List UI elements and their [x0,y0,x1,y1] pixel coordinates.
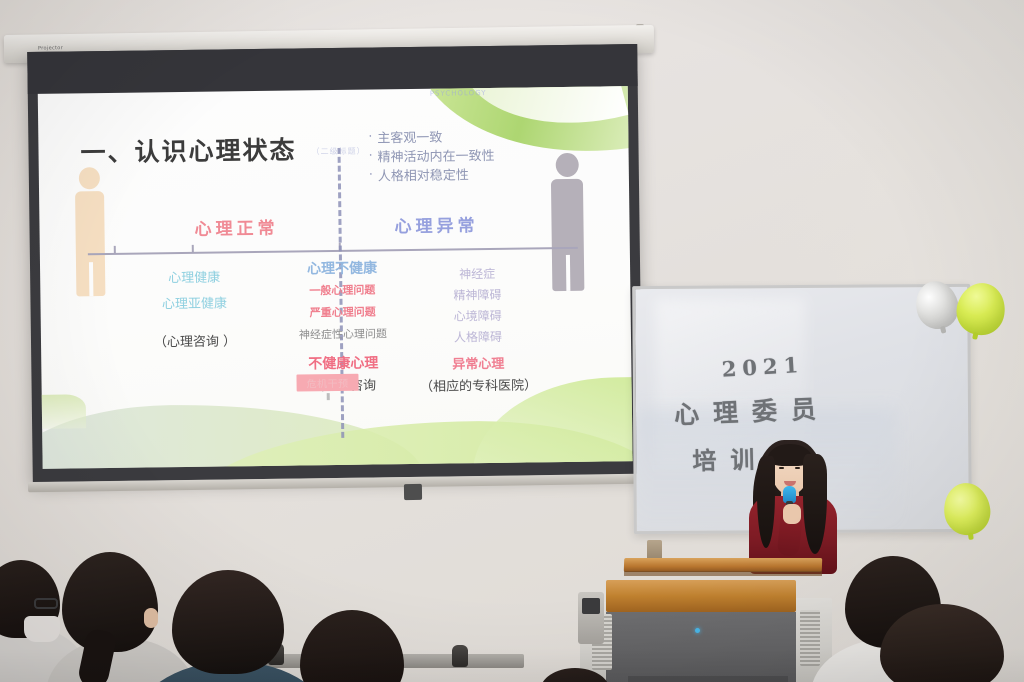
column-item: 神经症 [392,263,562,286]
bullet-item: 人格相对稳定性 [369,166,495,187]
bullet-item: 精神活动内在一致性 [369,147,495,168]
slide-column-normal-healthy: 心理健康 心理亚健康 （心理咨询 ） [114,265,275,357]
presentation-slide: PSYCHOLOGY 一、认识心理状态 （二级标题） 主客观一致 精神活动内在一… [38,86,633,469]
podium-status-led [695,628,700,633]
audience-ear [144,608,158,628]
wall-device-screen [582,598,600,614]
column-item: 异常心理 [393,353,563,377]
column-item: 精神障碍 [392,284,562,307]
slide-bullet-list: 主客观一致 精神活动内在一致性 人格相对稳定性 [368,128,495,187]
presenter-eye-right [795,467,800,469]
face-mask [24,616,60,642]
slide-column-abnormal: 神经症 精神障碍 心境障碍 人格障碍 异常心理 （相应的专科医院） [392,263,564,399]
slide-title: 一、认识心理状态 [80,130,296,169]
column-item: 人格障碍 [393,326,563,349]
bullet-item: 主客观一致 [368,128,494,149]
silhouette-leg-gap [566,255,570,291]
slide-chip-tail [327,393,330,400]
person-silhouette-beige-icon [75,167,106,296]
silhouette-head [555,153,578,177]
presenter-hand [783,504,801,524]
podium-top-shadow [624,571,822,576]
axis-tick [192,245,194,253]
axis-label-abnormal: 心理异常 [394,211,478,237]
screen-pull-tab [404,484,422,500]
slide-top-note: PSYCHOLOGY [430,89,487,98]
column-item: 心理亚健康 [114,291,274,319]
silhouette-body [75,191,105,296]
lecture-hall-photo: Projector PSYCHOLOGY 一、认识心理状态 （二级标题） [0,0,1024,682]
silhouette-head [79,167,100,189]
podium-top-rail [624,558,822,572]
column-item: 心境障碍 [393,305,563,328]
whiteboard-text-year: 2021 [721,352,805,382]
silhouette-leg-gap [88,262,92,296]
podium-wood-front [606,580,796,612]
axis-label-normal: 心理正常 [194,214,278,240]
presenter-eye-left [779,467,784,469]
projector-screen: PSYCHOLOGY 一、认识心理状态 （二级标题） 主客观一致 精神活动内在一… [27,44,643,482]
column-item: 心理健康 [114,265,274,293]
column-item: （心理咨询 ） [115,329,275,357]
axis-tick [114,246,116,254]
whiteboard-text-title: 心理委员 [673,389,830,432]
slide-highlight-chip: 危机干预 [296,374,358,392]
slide-axis-line [88,247,578,255]
slide-decor-left-chip [38,394,86,429]
glasses-icon [34,598,58,609]
column-item: （相应的专科医院） [394,375,564,399]
foreground-shadow [0,648,1024,682]
